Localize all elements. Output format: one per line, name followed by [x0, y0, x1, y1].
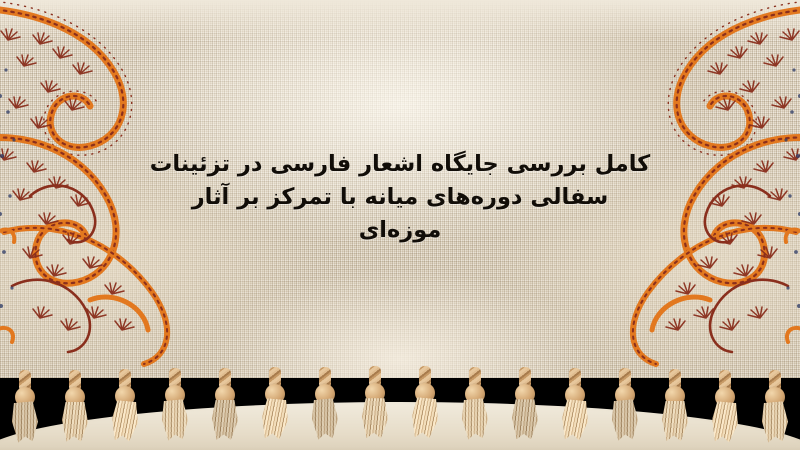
tassel-fringe — [0, 366, 800, 450]
tassel — [458, 367, 492, 447]
tassel-skirt — [260, 398, 289, 440]
tassel-skirt — [610, 399, 639, 441]
tassel — [258, 367, 292, 447]
tassel — [208, 368, 242, 448]
tassel-skirt — [310, 398, 339, 440]
title-line-2: سفالی دوره‌های میانه با تمرکز بر آثار — [0, 181, 800, 214]
tassel-skirt — [760, 401, 789, 443]
tassel — [358, 366, 392, 446]
tassel — [58, 370, 92, 450]
tassel-skirt — [710, 401, 739, 443]
tassel — [558, 368, 592, 448]
tassel-skirt — [560, 399, 589, 441]
title-line-1: کامل بررسی جایگاه اشعار فارسی در تزئینات — [0, 148, 800, 181]
title-card-stage: کامل بررسی جایگاه اشعار فارسی در تزئینات… — [0, 0, 800, 450]
tassel-skirt — [110, 400, 139, 442]
tassel — [108, 369, 142, 449]
tassel — [608, 368, 642, 448]
tassel-skirt — [362, 398, 388, 438]
title-line-3: موزه‌ای — [0, 214, 800, 247]
tassel-skirt — [10, 401, 39, 443]
tassel-skirt — [62, 402, 88, 442]
tassel — [408, 366, 442, 446]
tassel — [308, 367, 342, 447]
tassel-skirt — [410, 397, 439, 439]
tassel-skirt — [662, 401, 688, 441]
tassel — [508, 367, 542, 447]
tassel-skirt — [160, 399, 189, 441]
tassel — [758, 370, 792, 450]
tassel — [8, 370, 42, 450]
tassel-skirt — [460, 398, 489, 440]
page-title: کامل بررسی جایگاه اشعار فارسی در تزئینات… — [0, 148, 800, 247]
tassel — [158, 368, 192, 448]
tassel — [708, 370, 742, 450]
tassel — [658, 369, 692, 449]
tassel-skirt — [512, 399, 538, 439]
tassel-skirt — [212, 400, 238, 440]
